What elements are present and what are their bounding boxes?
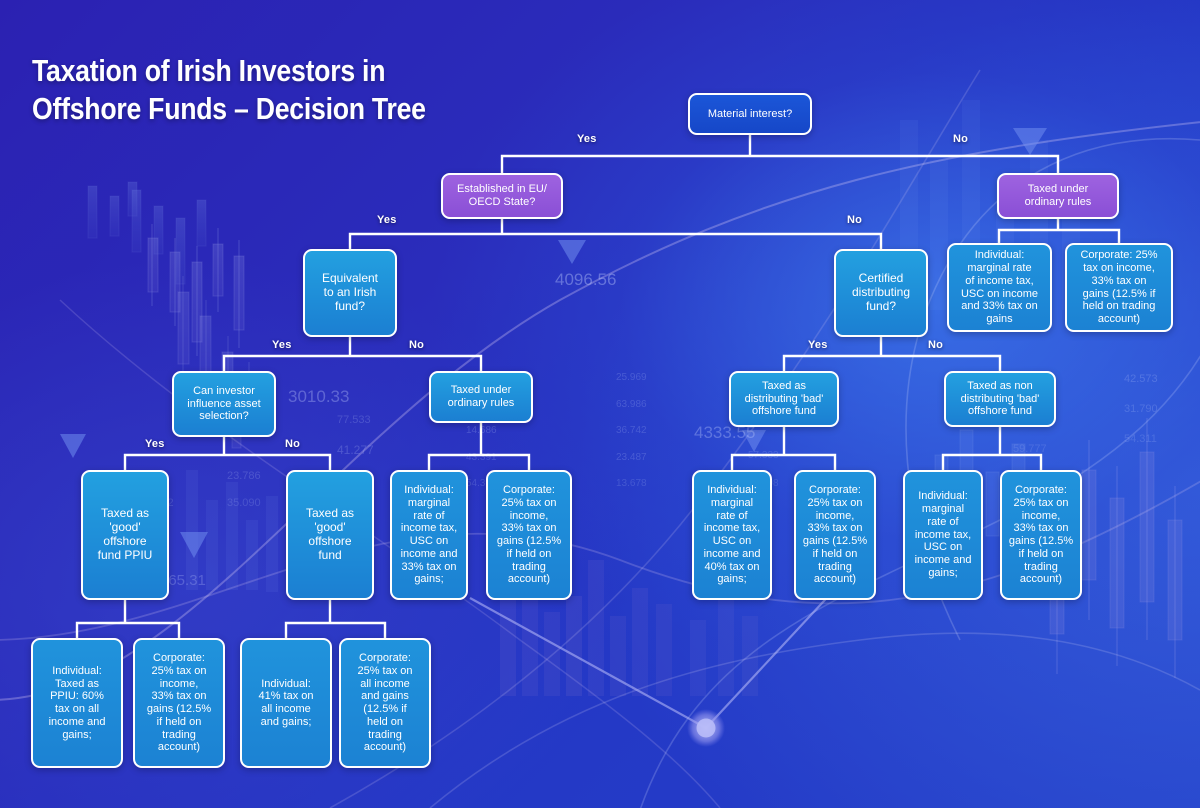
edge-label-certified-no: No [928, 339, 943, 351]
node-ndb_ind[interactable]: Individual:marginalrate ofincome tax,USC… [903, 470, 983, 600]
edge-label-root-yes: Yes [577, 133, 597, 145]
node-eu_oecd[interactable]: Established in EU/OECD State? [441, 173, 563, 219]
node-om_corp[interactable]: Corporate:25% tax onincome,33% tax ongai… [486, 470, 572, 600]
edge-label-influence-no: No [285, 438, 300, 450]
node-ord_corp[interactable]: Corporate: 25%tax on income,33% tax onga… [1065, 243, 1173, 332]
node-influence[interactable]: Can investorinfluence assetselection? [172, 371, 276, 437]
node-label-ord_corp: Corporate: 25%tax on income,33% tax onga… [1072, 249, 1166, 326]
node-om_ind[interactable]: Individual:marginalrate ofincome tax,USC… [390, 470, 468, 600]
node-ppiu_ind[interactable]: Individual:Taxed asPPIU: 60%tax on allin… [31, 638, 123, 768]
node-label-ord_ind: Individual:marginal rateof income tax,US… [954, 249, 1045, 326]
node-db_corp[interactable]: Corporate:25% tax onincome,33% tax ongai… [794, 470, 876, 600]
node-label-good_fund: Taxed as'good'offshorefund [293, 507, 367, 563]
node-label-good_corp: Corporate:25% tax onall incomeand gains(… [346, 652, 424, 754]
node-certified[interactable]: Certifieddistributingfund? [834, 249, 928, 337]
node-dist_bad[interactable]: Taxed asdistributing 'bad'offshore fund [729, 371, 839, 427]
node-good_ppiu[interactable]: Taxed as'good'offshorefund PPIU [81, 470, 169, 600]
node-label-eu_oecd: Established in EU/OECD State? [448, 183, 556, 209]
node-label-ordinary_top: Taxed underordinary rules [1004, 183, 1112, 209]
page-title: Taxation of Irish Investors inOffshore F… [32, 52, 426, 128]
node-label-ndb_corp: Corporate:25% tax onincome,33% tax ongai… [1007, 484, 1075, 586]
edge-label-certified-yes: Yes [808, 339, 828, 351]
node-equiv_irish[interactable]: Equivalentto an Irishfund? [303, 249, 397, 337]
node-label-ppiu_ind: Individual:Taxed asPPIU: 60%tax on allin… [38, 665, 116, 742]
node-good_corp[interactable]: Corporate:25% tax onall incomeand gains(… [339, 638, 431, 768]
node-label-influence: Can investorinfluence assetselection? [179, 385, 269, 423]
edge-label-eu-no: No [847, 214, 862, 226]
page-title-line-2: Offshore Funds – Decision Tree [32, 90, 426, 128]
node-good_fund[interactable]: Taxed as'good'offshorefund [286, 470, 374, 600]
node-ordinary_top[interactable]: Taxed underordinary rules [997, 173, 1119, 219]
node-label-equiv_irish: Equivalentto an Irishfund? [310, 272, 390, 314]
node-label-om_corp: Corporate:25% tax onincome,33% tax ongai… [493, 484, 565, 586]
node-ordinary_mid[interactable]: Taxed underordinary rules [429, 371, 533, 423]
node-label-db_ind: Individual:marginalrate ofincome tax,USC… [699, 484, 765, 586]
edge-label-eu-yes: Yes [377, 214, 397, 226]
node-good_ind[interactable]: Individual:41% tax onall incomeand gains… [240, 638, 332, 768]
edge-label-equiv-no: No [409, 339, 424, 351]
node-label-ppiu_corp: Corporate:25% tax onincome,33% tax ongai… [140, 652, 218, 754]
node-label-om_ind: Individual:marginalrate ofincome tax,USC… [397, 484, 461, 586]
node-label-root: Material interest? [695, 108, 805, 121]
node-db_ind[interactable]: Individual:marginalrate ofincome tax,USC… [692, 470, 772, 600]
node-ord_ind[interactable]: Individual:marginal rateof income tax,US… [947, 243, 1052, 332]
node-label-nondist_bad: Taxed as nondistributing 'bad'offshore f… [951, 380, 1049, 418]
page-title-line-1: Taxation of Irish Investors in [32, 52, 426, 90]
node-ndb_corp[interactable]: Corporate:25% tax onincome,33% tax ongai… [1000, 470, 1082, 600]
node-root[interactable]: Material interest? [688, 93, 812, 135]
edge-label-equiv-yes: Yes [272, 339, 292, 351]
edge-label-root-no: No [953, 133, 968, 145]
edge-label-influence-yes: Yes [145, 438, 165, 450]
node-nondist_bad[interactable]: Taxed as nondistributing 'bad'offshore f… [944, 371, 1056, 427]
node-ppiu_corp[interactable]: Corporate:25% tax onincome,33% tax ongai… [133, 638, 225, 768]
node-label-dist_bad: Taxed asdistributing 'bad'offshore fund [736, 380, 832, 418]
node-label-db_corp: Corporate:25% tax onincome,33% tax ongai… [801, 484, 869, 586]
node-label-ordinary_mid: Taxed underordinary rules [436, 384, 526, 410]
node-label-ndb_ind: Individual:marginalrate ofincome tax,USC… [910, 490, 976, 579]
node-label-certified: Certifieddistributingfund? [841, 272, 921, 314]
node-label-good_ppiu: Taxed as'good'offshorefund PPIU [88, 507, 162, 563]
node-label-good_ind: Individual:41% tax onall incomeand gains… [247, 678, 325, 729]
